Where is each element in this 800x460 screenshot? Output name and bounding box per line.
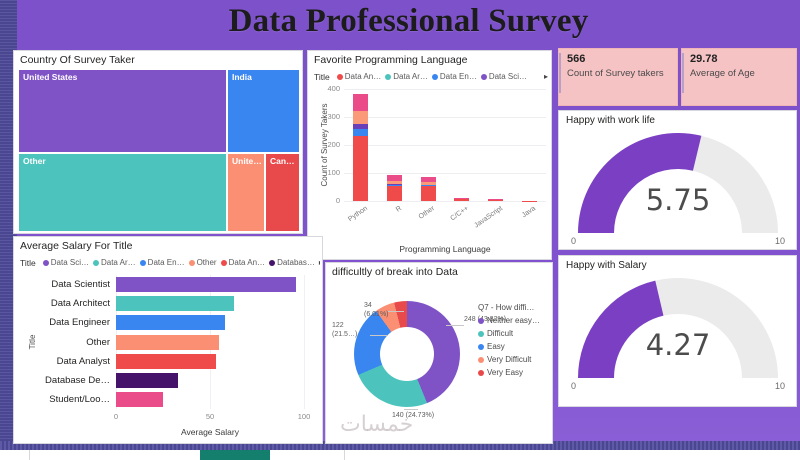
donut-leader-line bbox=[446, 325, 464, 326]
bar-category-label: Data Engineer bbox=[18, 315, 110, 330]
treemap-node-label: Other bbox=[19, 154, 226, 166]
kpi-label: Count of Survey takers bbox=[567, 68, 664, 79]
bar[interactable] bbox=[116, 392, 163, 407]
donut-leader-line bbox=[388, 311, 404, 312]
donut-legend-label: Very Difficult bbox=[487, 355, 531, 364]
gauge-card-work-life[interactable]: Happy with work life 5.75010 bbox=[558, 110, 797, 250]
donut-legend[interactable]: Q7 - How diffi… Neither easy…DifficultEa… bbox=[478, 303, 554, 381]
x-axis-tick: 100 bbox=[292, 412, 316, 421]
legend-swatch-icon bbox=[140, 260, 146, 266]
bar-category-label: Other bbox=[18, 335, 110, 350]
donut-legend-item[interactable]: Difficult bbox=[478, 329, 554, 338]
gauge-value: 4.27 bbox=[569, 328, 787, 362]
legend-item-label: Data En… bbox=[440, 72, 477, 81]
lang-chart-legend[interactable]: TitleData An…Data Ar…Data En…Data Sci…▸ bbox=[314, 69, 550, 84]
bar-row[interactable] bbox=[116, 315, 304, 330]
legend-item-label: Data Ar… bbox=[393, 72, 428, 81]
legend-item-label: Data Sci… bbox=[489, 72, 527, 81]
kpi-card-survey-takers[interactable]: 566 Count of Survey takers bbox=[558, 48, 678, 106]
kpi-accent-bar bbox=[682, 53, 684, 93]
bar-row[interactable] bbox=[116, 373, 304, 388]
donut-legend-label: Difficult bbox=[487, 329, 513, 338]
donut-data-label: 140 (24.73%) bbox=[392, 411, 434, 420]
legend-item[interactable]: Data Sci… bbox=[481, 72, 527, 81]
page-title: Data Professional Survey bbox=[17, 3, 800, 40]
gauge-title: Happy with work life bbox=[559, 111, 796, 126]
treemap-plot[interactable]: United StatesOtherIndiaUnited…Can… bbox=[18, 69, 300, 232]
gauge-card-salary[interactable]: Happy with Salary 4.27010 bbox=[558, 255, 797, 407]
kpi-value: 566 bbox=[567, 53, 585, 65]
strip-cell bbox=[0, 450, 30, 460]
x-axis-tick: 50 bbox=[198, 412, 222, 421]
legend-swatch-icon bbox=[337, 74, 343, 80]
favorite-language-card[interactable]: Favorite Programming Language TitleData … bbox=[307, 50, 552, 260]
legend-title: Title bbox=[20, 258, 36, 268]
bar-row[interactable] bbox=[116, 296, 304, 311]
treemap-node[interactable]: Can… bbox=[265, 153, 300, 232]
legend-swatch-icon bbox=[432, 74, 438, 80]
x-axis-label: Average Salary bbox=[116, 427, 304, 437]
donut-leader-line bbox=[404, 409, 418, 410]
title-band: Data Professional Survey bbox=[17, 0, 800, 46]
kpi-value: 29.78 bbox=[690, 53, 718, 65]
legend-item[interactable]: Data En… bbox=[432, 72, 477, 81]
strip-cell bbox=[30, 450, 225, 460]
donut-legend-item[interactable]: Very Difficult bbox=[478, 355, 554, 364]
gauge-min-label: 0 bbox=[571, 236, 576, 246]
y-axis-tick: 300 bbox=[318, 112, 340, 121]
column-segment[interactable] bbox=[353, 129, 368, 136]
gauge-max-label: 10 bbox=[775, 381, 785, 391]
donut-legend-label: Easy bbox=[487, 342, 505, 351]
gridline bbox=[304, 275, 305, 409]
bar-category-label: Data Scientist bbox=[18, 277, 110, 292]
legend-item[interactable]: Data En… bbox=[140, 258, 185, 267]
legend-item-label: Data An… bbox=[345, 72, 381, 81]
column-segment[interactable] bbox=[387, 186, 402, 201]
legend-item-label: Data Ar… bbox=[101, 258, 136, 267]
bar-row[interactable] bbox=[116, 354, 304, 369]
treemap-node-label: United… bbox=[228, 154, 264, 166]
gridline bbox=[344, 89, 546, 90]
legend-title: Title bbox=[314, 72, 330, 82]
legend-swatch-icon bbox=[221, 260, 227, 266]
legend-item[interactable]: Other bbox=[189, 258, 217, 267]
column-segment[interactable] bbox=[421, 186, 436, 201]
chevron-right-icon[interactable]: ▸ bbox=[544, 72, 550, 81]
bar[interactable] bbox=[116, 296, 234, 311]
stacked-column[interactable] bbox=[421, 177, 436, 201]
donut-leader-line bbox=[370, 335, 388, 336]
legend-item[interactable]: Data An… bbox=[337, 72, 381, 81]
difficulty-donut-card[interactable]: difficultly of break into Data 248 (43.8… bbox=[325, 262, 553, 444]
gauge-arc: 5.75010 bbox=[569, 131, 787, 235]
bar-row[interactable] bbox=[116, 392, 304, 407]
treemap-node[interactable]: India bbox=[227, 69, 300, 153]
donut-legend-item[interactable]: Easy bbox=[478, 342, 554, 351]
kpi-card-average-age[interactable]: 29.78 Average of Age bbox=[681, 48, 797, 106]
legend-item-label: Data En… bbox=[148, 258, 185, 267]
bar[interactable] bbox=[116, 335, 219, 350]
legend-item[interactable]: Data Sci… bbox=[43, 258, 89, 267]
kpi-label: Average of Age bbox=[690, 68, 755, 79]
bar[interactable] bbox=[116, 315, 225, 330]
legend-swatch-icon bbox=[269, 260, 275, 266]
bar-row[interactable] bbox=[116, 335, 304, 350]
y-axis-tick: 200 bbox=[318, 140, 340, 149]
bar-category-label: Database De… bbox=[18, 373, 110, 388]
legend-item-label: Data An… bbox=[229, 258, 265, 267]
donut-data-label: 122(21.5…) bbox=[332, 321, 357, 339]
chevron-right-icon[interactable]: ▸ bbox=[319, 258, 320, 267]
treemap-node[interactable]: United States bbox=[18, 69, 227, 153]
legend-item-label: Databas… bbox=[277, 258, 315, 267]
x-axis-tick: 0 bbox=[104, 412, 128, 421]
treemap-title: Country Of Survey Taker bbox=[14, 51, 302, 67]
stacked-column[interactable] bbox=[454, 198, 469, 201]
gauge-title: Happy with Salary bbox=[559, 256, 796, 271]
legend-swatch-icon bbox=[478, 344, 484, 350]
treemap-node-label: Can… bbox=[266, 154, 299, 166]
donut-data-label: 34(6.01%) bbox=[364, 301, 389, 319]
legend-swatch-icon bbox=[478, 370, 484, 376]
stacked-column[interactable] bbox=[387, 175, 402, 201]
donut-legend-item[interactable]: Neither easy… bbox=[478, 316, 554, 325]
legend-item[interactable]: Data An… bbox=[221, 258, 265, 267]
kpi-accent-bar bbox=[559, 53, 561, 93]
legend-swatch-icon bbox=[189, 260, 195, 266]
stacked-column[interactable] bbox=[488, 199, 503, 201]
donut-hole bbox=[380, 327, 434, 381]
y-axis-tick: 100 bbox=[318, 168, 340, 177]
column-segment[interactable] bbox=[488, 200, 503, 201]
country-treemap-card[interactable]: Country Of Survey Taker United StatesOth… bbox=[13, 50, 303, 234]
salary-chart-title: Average Salary For Title bbox=[14, 237, 322, 253]
legend-item[interactable]: Data Ar… bbox=[385, 72, 428, 81]
treemap-node-label: United States bbox=[19, 70, 226, 82]
treemap-node[interactable]: United… bbox=[227, 153, 265, 232]
average-salary-card[interactable]: Average Salary For Title TitleData Sci…D… bbox=[13, 236, 323, 444]
bottom-chrome-strip bbox=[0, 450, 800, 460]
y-axis-tick: 0 bbox=[318, 196, 340, 205]
bar[interactable] bbox=[116, 277, 296, 292]
legend-item[interactable]: Databas… bbox=[269, 258, 315, 267]
bar-category-label: Data Analyst bbox=[18, 354, 110, 369]
legend-item-label: Data Sci… bbox=[51, 258, 89, 267]
gauge-max-label: 10 bbox=[775, 236, 785, 246]
lang-chart-plot[interactable]: Count of Survey Takers0100200300400Pytho… bbox=[314, 85, 550, 257]
gridline bbox=[344, 145, 546, 146]
bar[interactable] bbox=[116, 373, 178, 388]
bar[interactable] bbox=[116, 354, 216, 369]
dashboard-root: Data Professional Survey Country Of Surv… bbox=[0, 0, 800, 460]
lang-chart-title: Favorite Programming Language bbox=[308, 51, 551, 67]
legend-swatch-icon bbox=[43, 260, 49, 266]
legend-swatch-icon bbox=[93, 260, 99, 266]
donut-legend-title: Q7 - How diffi… bbox=[478, 303, 554, 312]
sheet-tab[interactable] bbox=[200, 450, 270, 460]
salary-chart-legend[interactable]: TitleData Sci…Data Ar…Data En…OtherData … bbox=[20, 255, 320, 270]
legend-item-label: Other bbox=[197, 258, 217, 267]
column-segment[interactable] bbox=[353, 136, 368, 201]
salary-chart-plot[interactable]: Title050100Data ScientistData ArchitectD… bbox=[18, 271, 320, 441]
stacked-column[interactable] bbox=[353, 94, 368, 201]
gauge-arc: 4.27010 bbox=[569, 276, 787, 380]
legend-swatch-icon bbox=[478, 318, 484, 324]
gridline bbox=[344, 117, 546, 118]
legend-swatch-icon bbox=[481, 74, 487, 80]
gauge-value: 5.75 bbox=[569, 183, 787, 217]
bar-category-label: Data Architect bbox=[18, 296, 110, 311]
legend-swatch-icon bbox=[478, 357, 484, 363]
legend-item[interactable]: Data Ar… bbox=[93, 258, 136, 267]
column-segment[interactable] bbox=[353, 94, 368, 111]
legend-swatch-icon bbox=[478, 331, 484, 337]
legend-swatch-icon bbox=[385, 74, 391, 80]
bar-category-label: Student/Loo… bbox=[18, 392, 110, 407]
donut-legend-label: Neither easy… bbox=[487, 316, 540, 325]
treemap-node[interactable]: Other bbox=[18, 153, 227, 232]
donut-legend-item[interactable]: Very Easy bbox=[478, 368, 554, 377]
treemap-node-label: India bbox=[228, 70, 299, 82]
y-axis-tick: 400 bbox=[318, 84, 340, 93]
donut-chart-title: difficultly of break into Data bbox=[326, 263, 552, 278]
gridline bbox=[344, 201, 546, 202]
column-segment[interactable] bbox=[353, 111, 368, 124]
x-axis-label: Programming Language bbox=[344, 244, 546, 254]
gauge-min-label: 0 bbox=[571, 381, 576, 391]
bar-row[interactable] bbox=[116, 277, 304, 292]
gridline bbox=[344, 173, 546, 174]
column-segment[interactable] bbox=[454, 199, 469, 201]
donut-legend-label: Very Easy bbox=[487, 368, 523, 377]
